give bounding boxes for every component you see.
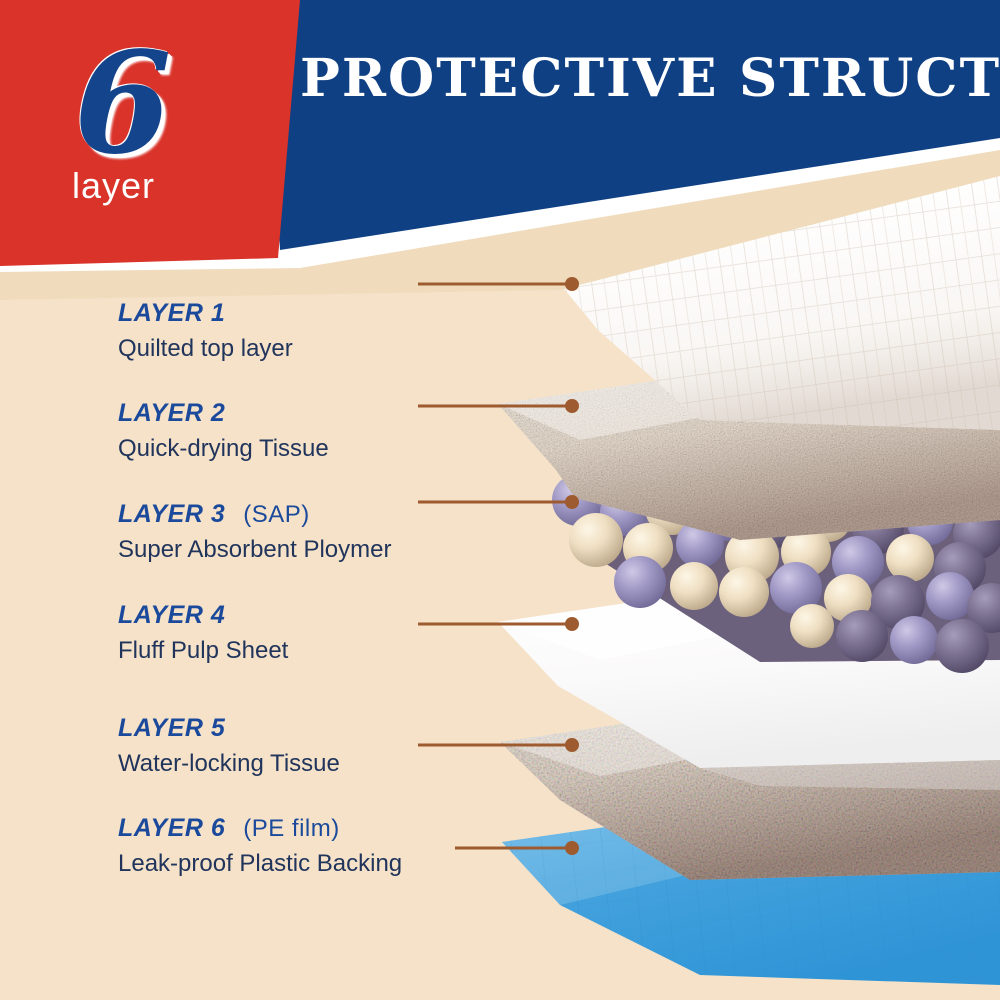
layer-caption-3-heading: LAYER 3(SAP) [118,501,391,529]
layer-caption-2-heading: LAYER 2 [118,400,329,428]
layer-caption-6: LAYER 6(PE film) Leak-proof Plastic Back… [118,815,402,877]
layer-caption-5-heading: LAYER 5 [118,715,340,743]
layer-caption-6-title: LAYER 6 [118,814,225,842]
badge-word: layer [72,168,155,204]
layer-caption-1: LAYER 1 Quilted top layer [118,300,293,362]
layer-caption-5-title: LAYER 5 [118,714,225,742]
layer-caption-1-title: LAYER 1 [118,299,225,327]
layer-caption-5: LAYER 5 Water-locking Tissue [118,715,340,777]
layer-caption-6-heading: LAYER 6(PE film) [118,815,402,843]
layer-caption-2-subtitle: Quick-drying Tissue [118,435,329,463]
layer-caption-4-heading: LAYER 4 [118,602,288,630]
layer-caption-6-paren: (PE film) [243,815,340,842]
layer-caption-4-title: LAYER 4 [118,601,225,629]
layer-caption-6-subtitle: Leak-proof Plastic Backing [118,850,402,878]
layer-caption-3-title: LAYER 3 [118,500,225,528]
layer-caption-1-heading: LAYER 1 [118,300,293,328]
layer-caption-5-subtitle: Water-locking Tissue [118,750,340,778]
layer-caption-4: LAYER 4 Fluff Pulp Sheet [118,602,288,664]
layer-caption-3-subtitle: Super Absorbent Ploymer [118,536,391,564]
layer-caption-2: LAYER 2 Quick-drying Tissue [118,400,329,462]
layer-caption-3: LAYER 3(SAP) Super Absorbent Ploymer [118,501,391,563]
badge-number: 6 [74,34,169,174]
layer-caption-2-title: LAYER 2 [118,399,225,427]
infographic-canvas: 6 layer PROTECTIVE STRUCTURE LAYER 1 Qui… [0,0,1000,1000]
page-title: PROTECTIVE STRUCTURE [300,52,973,107]
layer-caption-1-subtitle: Quilted top layer [118,335,293,363]
layer-caption-3-paren: (SAP) [243,501,310,528]
layer-caption-4-subtitle: Fluff Pulp Sheet [118,637,288,665]
